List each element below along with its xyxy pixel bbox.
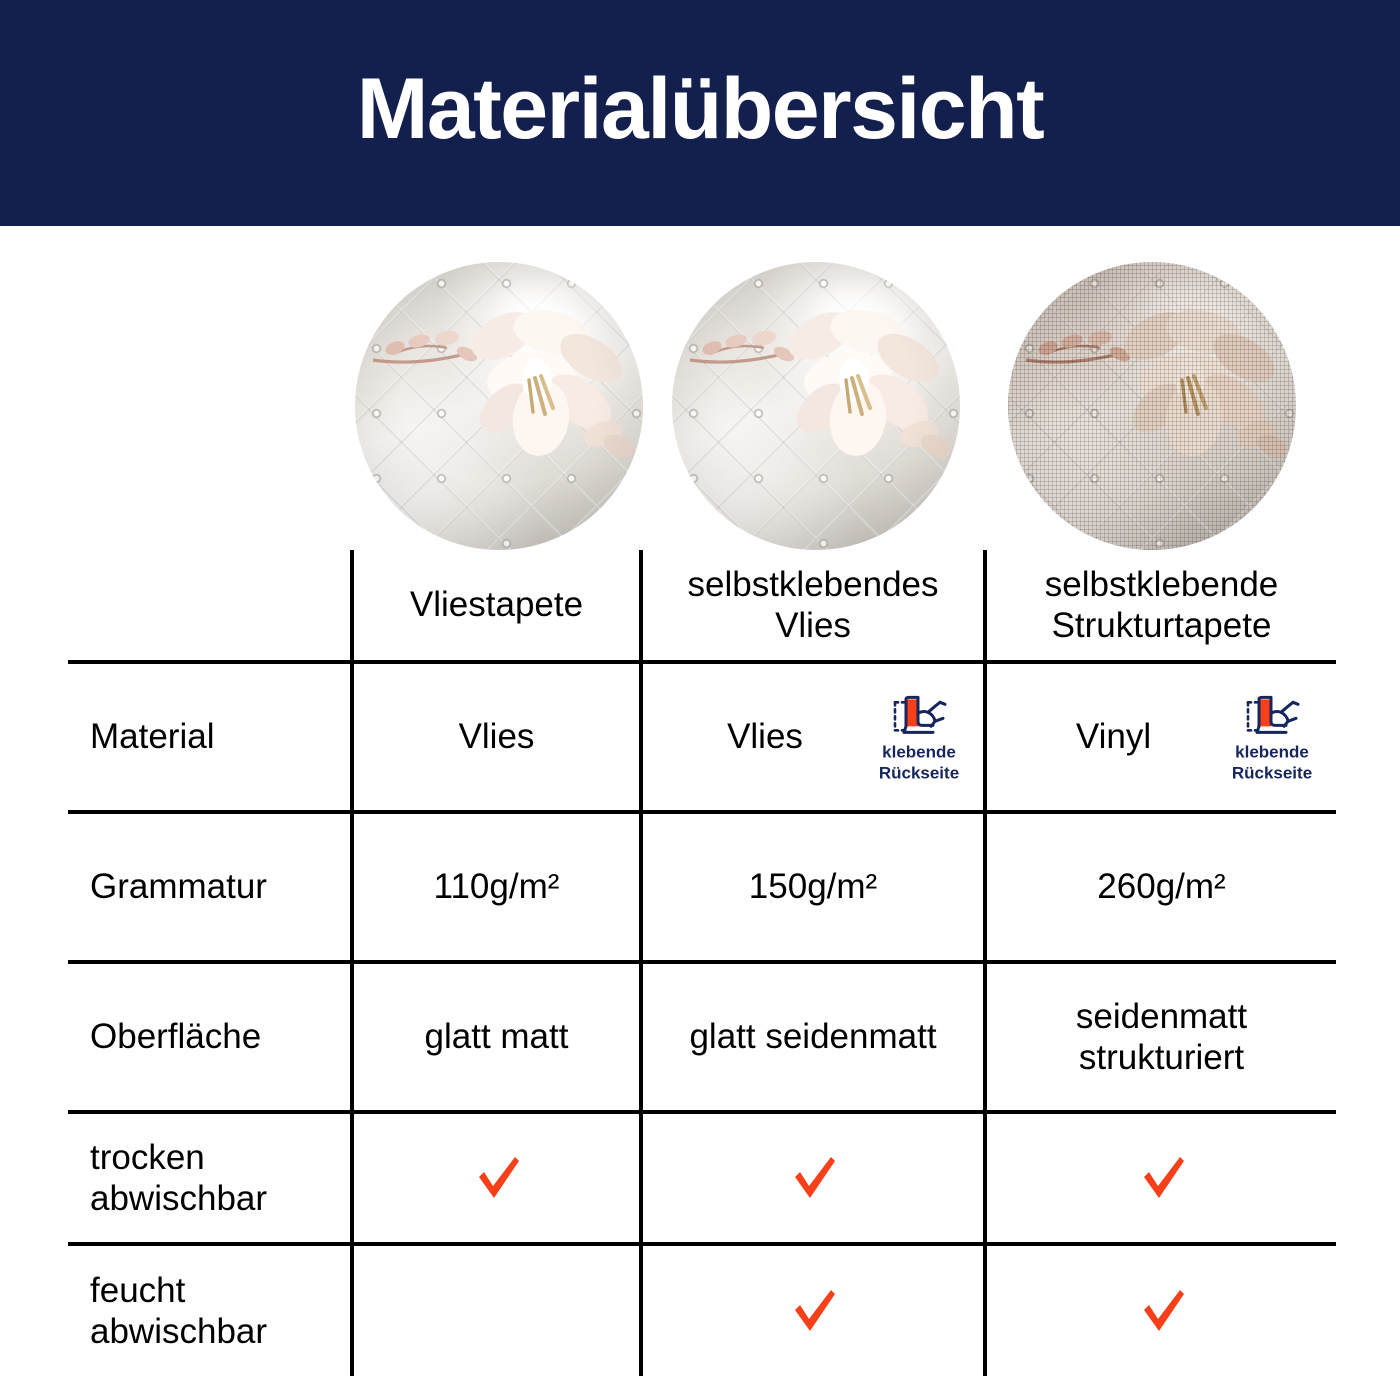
row-label-oberflaeche: Oberfläche	[68, 962, 352, 1112]
swatch-selbstklebende-strukturtapete	[1008, 262, 1296, 550]
checkmark-icon	[1135, 1284, 1189, 1338]
cell-grammatur-selbstklebende-strukturtapete: 260g/m²	[985, 812, 1336, 962]
adhesive-backing-badge: klebende Rückseite	[1214, 691, 1330, 782]
swatch-selbstklebendes-vlies	[672, 262, 960, 550]
row-label-material: Material	[68, 662, 352, 812]
cell-grammatur-vliestapete: 110g/m²	[352, 812, 641, 962]
vignette	[672, 262, 960, 550]
swatch-image-1	[355, 262, 643, 550]
badge-label-line2: Rückseite	[1232, 764, 1312, 783]
row-label-grammatur: Grammatur	[68, 812, 352, 962]
table-row-trocken-abwischbar: trocken abwischbar	[68, 1112, 1336, 1244]
cell-trocken-selbstklebendes-vlies	[641, 1112, 985, 1244]
checkmark-icon	[786, 1284, 840, 1338]
page-title: Materialübersicht	[357, 66, 1044, 160]
peel-adhesive-backing-icon	[1240, 691, 1304, 741]
badge-label-line1: klebende	[1235, 743, 1309, 762]
header-cell-selbstklebende-strukturtapete: selbstklebende Strukturtapete	[985, 550, 1336, 662]
swatch-vliestapete	[355, 262, 643, 550]
peel-adhesive-backing-icon	[887, 691, 951, 741]
badge-label-line1: klebende	[882, 743, 956, 762]
swatch-image-2	[672, 262, 960, 550]
cell-oberflaeche-vliestapete: glatt matt	[352, 962, 641, 1112]
cell-feucht-selbstklebende-strukturtapete	[985, 1244, 1336, 1376]
vignette	[1008, 262, 1296, 550]
header-cell-selbstklebendes-vlies: selbstklebendes Vlies	[641, 550, 985, 662]
header-banner: Materialübersicht	[0, 0, 1400, 226]
table-row-grammatur: Grammatur 110g/m² 150g/m² 260g/m²	[68, 812, 1336, 962]
checkmark-icon	[1135, 1151, 1189, 1205]
swatch-image-3	[1008, 262, 1296, 550]
checkmark-icon	[470, 1151, 524, 1205]
cell-trocken-selbstklebende-strukturtapete	[985, 1112, 1336, 1244]
cell-oberflaeche-selbstklebendes-vlies: glatt seidenmatt	[641, 962, 985, 1112]
swatch-row	[352, 262, 1335, 550]
cell-feucht-selbstklebendes-vlies	[641, 1244, 985, 1376]
vignette	[355, 262, 643, 550]
row-label-trocken-abwischbar: trocken abwischbar	[68, 1112, 352, 1244]
table-row-oberflaeche: Oberfläche glatt matt glatt seidenmatt s…	[68, 962, 1336, 1112]
header-cell-empty	[68, 550, 352, 662]
cell-material-vliestapete: Vlies	[352, 662, 641, 812]
checkmark-icon	[786, 1151, 840, 1205]
table-row-material: Material Vlies Vlies	[68, 662, 1336, 812]
header-cell-vliestapete: Vliestapete	[352, 550, 641, 662]
cell-trocken-vliestapete	[352, 1112, 641, 1244]
cell-material-selbstklebendes-vlies: Vlies	[641, 662, 985, 812]
cell-grammatur-selbstklebendes-vlies: 150g/m²	[641, 812, 985, 962]
cell-feucht-vliestapete	[352, 1244, 641, 1376]
row-label-feucht-abwischbar: feucht abwischbar	[68, 1244, 352, 1376]
cell-material-selbstklebende-strukturtapete: Vinyl	[985, 662, 1336, 812]
badge-label-line2: Rückseite	[879, 764, 959, 783]
material-comparison-table: Vliestapete selbstklebendes Vlies selbst…	[68, 550, 1336, 1376]
table-row-feucht-abwischbar: feucht abwischbar	[68, 1244, 1336, 1376]
material-overview-page: Materialübersicht	[0, 0, 1400, 1400]
cell-oberflaeche-selbstklebende-strukturtapete: seidenmatt strukturiert	[985, 962, 1336, 1112]
adhesive-backing-badge: klebende Rückseite	[861, 691, 977, 782]
table-header-row: Vliestapete selbstklebendes Vlies selbst…	[68, 550, 1336, 662]
